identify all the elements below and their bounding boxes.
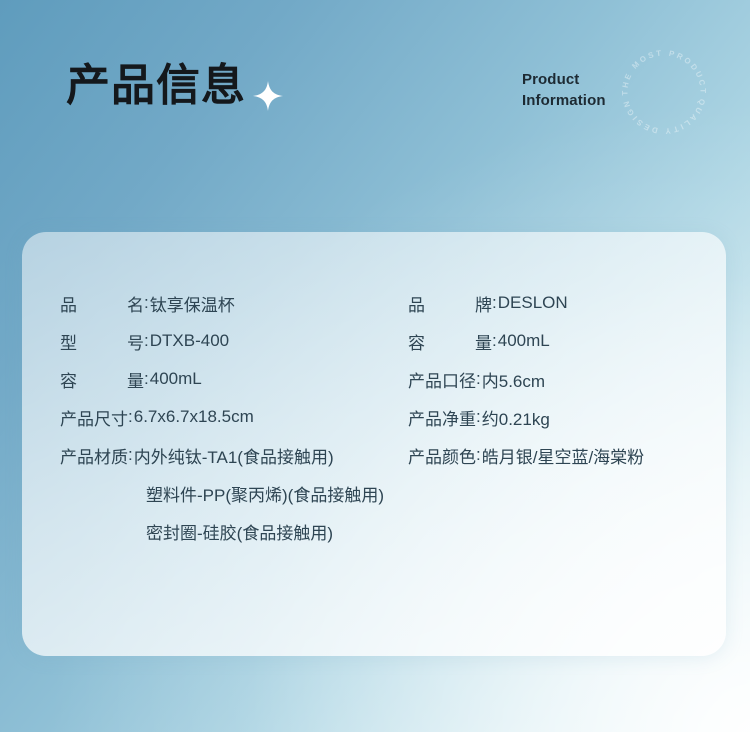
spec-separator: : (144, 331, 149, 351)
spec-column-left: 品 名 : 钛享保温杯 型 号 : DTXB-400 容 量 : 400mL (60, 284, 408, 550)
spec-value: 6.7x6.7x18.5cm (134, 407, 254, 427)
spec-row: 型 号 : DTXB-400 (60, 322, 408, 360)
spec-separator: : (128, 407, 133, 427)
spec-separator: : (128, 445, 133, 465)
sparkle-star-icon (252, 80, 284, 112)
spec-row: 产品材质 : 内外纯钛-TA1(食品接触用) (60, 436, 408, 474)
spec-value: 内外纯钛-TA1(食品接触用) (134, 443, 334, 468)
spec-row: 产品口径 : 内5.6cm (408, 360, 700, 398)
spec-row-continuation: 密封圈-硅胶(食品接触用) (60, 512, 408, 550)
spec-label: 型 号 (60, 329, 144, 354)
spec-separator: : (144, 293, 149, 313)
spec-separator: : (476, 445, 481, 465)
spec-label: 产品口径 (408, 367, 476, 392)
spec-row: 产品净重 : 约0.21kg (408, 398, 700, 436)
spec-row: 品 名 : 钛享保温杯 (60, 284, 408, 322)
spec-separator: : (144, 369, 149, 389)
page-title: 产品信息 (66, 64, 246, 108)
spec-label: 品 名 (60, 291, 144, 316)
spec-column-right: 品 牌 : DESLON 容 量 : 400mL 产品口径 : 内5.6cm (408, 284, 700, 474)
spec-value: DESLON (498, 293, 568, 313)
spec-label: 产品净重 (408, 405, 476, 430)
spec-label: 产品尺寸 (60, 405, 128, 430)
spec-row-continuation: 塑料件-PP(聚丙烯)(食品接触用) (60, 474, 408, 512)
spec-value: 密封圈-硅胶(食品接触用) (146, 519, 333, 544)
product-spec-card: 品 名 : 钛享保温杯 型 号 : DTXB-400 容 量 : 400mL (22, 232, 726, 656)
brand-line-2: Information (522, 91, 682, 112)
spec-separator: : (492, 293, 497, 313)
spec-separator: : (492, 331, 497, 351)
spec-value: 塑料件-PP(聚丙烯)(食品接触用) (146, 481, 384, 506)
spec-value: 400mL (498, 331, 550, 351)
spec-label: 品 牌 (408, 291, 492, 316)
spec-value: 内5.6cm (482, 367, 545, 392)
spec-value: 400mL (150, 369, 202, 389)
spec-separator: : (476, 369, 481, 389)
page-header: 产品信息 · THE MOST PRODUCT · · QUALITY DESI… (0, 0, 750, 200)
spec-separator: : (476, 407, 481, 427)
spec-row: 品 牌 : DESLON (408, 284, 700, 322)
spec-label: 产品颜色 (408, 443, 476, 468)
brand-line-1: Product (522, 70, 682, 91)
product-info-page: 产品信息 · THE MOST PRODUCT · · QUALITY DESI… (0, 0, 750, 732)
spec-value: 钛享保温杯 (150, 291, 235, 316)
spec-label: 容 量 (60, 367, 144, 392)
spec-row: 容 量 : 400mL (408, 322, 700, 360)
spec-value: 约0.21kg (482, 405, 550, 430)
spec-grid: 品 名 : 钛享保温杯 型 号 : DTXB-400 容 量 : 400mL (60, 284, 700, 550)
spec-label: 产品材质 (60, 443, 128, 468)
spec-value: DTXB-400 (150, 331, 229, 351)
brand-label: Product Information (522, 70, 682, 111)
spec-value: 皓月银/星空蓝/海棠粉 (482, 443, 644, 468)
spec-row: 产品颜色 : 皓月银/星空蓝/海棠粉 (408, 436, 700, 474)
spec-label: 容 量 (408, 329, 492, 354)
spec-row: 产品尺寸 : 6.7x6.7x18.5cm (60, 398, 408, 436)
spec-row: 容 量 : 400mL (60, 360, 408, 398)
